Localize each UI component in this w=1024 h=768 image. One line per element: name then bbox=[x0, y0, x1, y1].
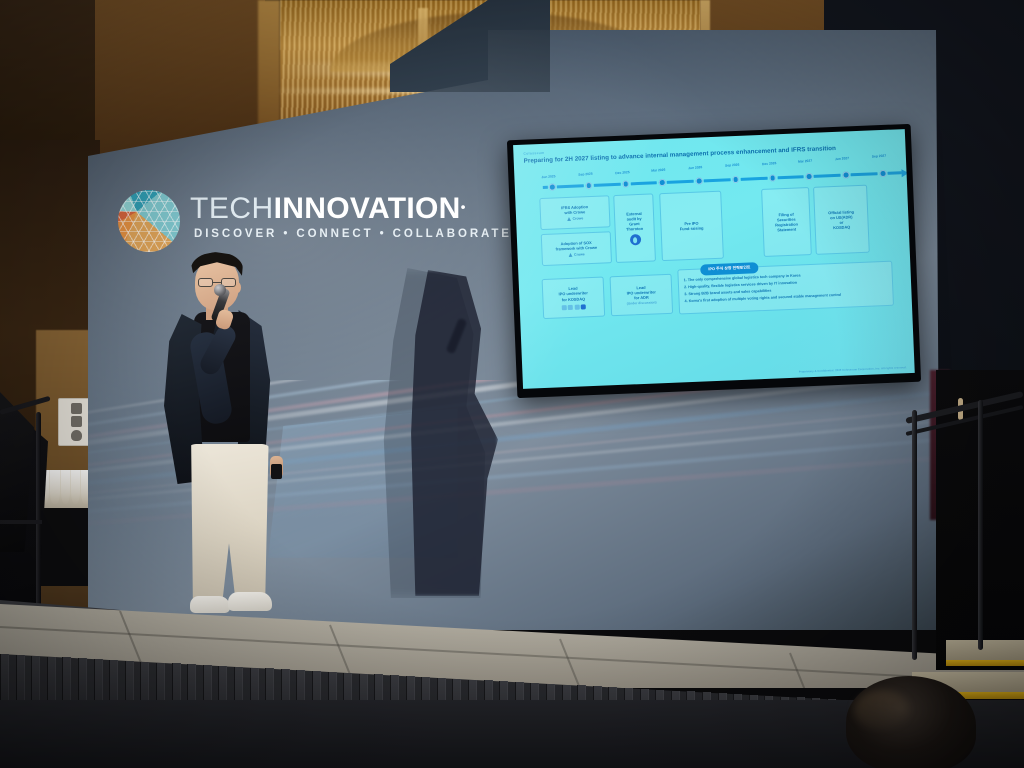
presenter bbox=[150, 248, 320, 636]
timeline-segment bbox=[814, 174, 841, 178]
shoe-right bbox=[228, 592, 272, 611]
timeline-node bbox=[732, 176, 739, 183]
underwriter-logos-icon bbox=[562, 304, 586, 310]
underwriter-text: LeadIPO underwriterfor ADR bbox=[626, 284, 656, 301]
milestone-text: Official listingon US(ADR)orKOSDAQ bbox=[828, 209, 855, 231]
timeline-node bbox=[549, 184, 556, 191]
handrail-left-post bbox=[36, 412, 41, 624]
bank-logo-icon bbox=[568, 305, 573, 310]
vendor-name: Crowe bbox=[572, 216, 583, 220]
underwriter-card: LeadIPO underwriterfor KOSDAQ bbox=[542, 277, 606, 320]
milestone-text: Pre IPOFund-raising bbox=[680, 220, 704, 231]
timeline-label: Sep 2026 bbox=[725, 163, 740, 168]
handrail-right-post bbox=[912, 410, 917, 660]
milestone-cards: IFRS Adoptionwith CroweCroweAdoption of … bbox=[539, 182, 897, 272]
timeline-segment bbox=[704, 178, 731, 182]
handrail-left-mid bbox=[0, 520, 42, 524]
timeline-segment bbox=[740, 177, 767, 181]
bank-logo-icon bbox=[574, 304, 579, 309]
timeline-segment bbox=[594, 183, 621, 187]
timeline-start-cap bbox=[543, 186, 548, 189]
timeline-node bbox=[622, 181, 629, 188]
drinking-glass bbox=[61, 470, 70, 504]
ceiling-column bbox=[258, 0, 280, 140]
crowe-mark-icon bbox=[568, 253, 572, 257]
milestone-card: Pre IPOFund-raising bbox=[659, 191, 724, 261]
timeline-label: Jun 2026 bbox=[688, 165, 702, 170]
milestone-text: IFRS Adoptionwith Crowe bbox=[561, 204, 588, 215]
registered-mark-icon: • bbox=[461, 199, 466, 215]
geodesic-globe-icon bbox=[118, 190, 180, 252]
shoe-left bbox=[190, 596, 230, 613]
milestone-card: Official listingon US(ADR)orKOSDAQ bbox=[813, 185, 870, 255]
event-name-bold: INNOVATION bbox=[274, 192, 461, 225]
timeline-label: Dec 2026 bbox=[762, 161, 777, 166]
sign-glyph-icon bbox=[71, 416, 82, 427]
timeline-segment bbox=[557, 184, 584, 188]
event-wordmark: TECHINNOVATION• bbox=[190, 192, 465, 226]
right-arrow-icon bbox=[901, 169, 908, 177]
drinking-glass bbox=[50, 470, 59, 504]
milestone-card: Adoption of SOXframework with CroweCrowe bbox=[541, 231, 612, 266]
bank-logo-icon bbox=[581, 304, 586, 309]
timeline-label: Sep 2027 bbox=[872, 154, 887, 159]
stair-tread bbox=[946, 640, 1024, 662]
lens-left bbox=[198, 278, 213, 287]
event-name-light: TECH bbox=[190, 192, 274, 225]
milestone-card: IFRS Adoptionwith CroweCrowe bbox=[539, 195, 610, 230]
crowe-logo-icon: Crowe bbox=[568, 252, 584, 257]
milestone-text: Adoption of SOXframework with Crowe bbox=[555, 240, 597, 252]
timeline-segment bbox=[630, 181, 657, 185]
underwriter-note: (Under discussion) bbox=[627, 301, 657, 306]
strategy-panel: IPO 주식 상장 전략포인트 1. The only comprehensiv… bbox=[677, 261, 894, 315]
timeline-node bbox=[696, 178, 703, 185]
timeline-segment bbox=[887, 171, 901, 175]
event-tagline: DISCOVER • CONNECT • COLLABORATE bbox=[194, 228, 512, 240]
milestone-card: Filing ofSecuritiesRegistrationStatement bbox=[761, 187, 812, 257]
strategy-pill-label: IPO 주식 상장 전략포인트 bbox=[700, 262, 759, 275]
milestone-text: Filing ofSecuritiesRegistrationStatement bbox=[775, 211, 799, 233]
timeline-label: Dec 2025 bbox=[615, 170, 630, 175]
timeline-node bbox=[769, 175, 776, 182]
crowe-logo-icon: Crowe bbox=[567, 216, 583, 221]
microphone-icon bbox=[214, 284, 226, 296]
stair-safety-strip bbox=[946, 660, 1024, 666]
clicker-device bbox=[271, 464, 282, 479]
timeline-node bbox=[585, 182, 592, 189]
underwriter-card: LeadIPO underwriterfor ADR (Under discus… bbox=[610, 274, 674, 317]
drinking-glass bbox=[71, 470, 80, 504]
display-screen: Colosseum colosseum Preparing for 2H 202… bbox=[513, 129, 915, 389]
milestone-text: Externalaudit byGrantThornton bbox=[625, 211, 643, 232]
milestone-card: Externalaudit byGrantThornton bbox=[613, 193, 656, 263]
underwriter-text: LeadIPO underwriterfor KOSDAQ bbox=[558, 285, 588, 302]
grant-thornton-logo-icon bbox=[629, 234, 640, 245]
sign-glyph-icon bbox=[71, 403, 82, 414]
glasses-bridge bbox=[213, 282, 221, 283]
timeline-segment bbox=[667, 180, 694, 184]
timeline-node bbox=[843, 172, 850, 179]
timeline-label: Sep 2025 bbox=[578, 172, 593, 177]
audience-member-head bbox=[846, 676, 976, 768]
timeline-segment bbox=[851, 172, 878, 176]
timeline-node bbox=[806, 173, 813, 180]
conference-room-photo: TECHINNOVATION• DISCOVER • CONNECT • COL… bbox=[0, 0, 1024, 768]
bank-logo-icon bbox=[562, 305, 567, 310]
timeline-label: Mar 2026 bbox=[651, 167, 665, 172]
slide-content: Colosseum colosseum Preparing for 2H 202… bbox=[513, 129, 915, 389]
event-logo: TECHINNOVATION• DISCOVER • CONNECT • COL… bbox=[118, 188, 418, 254]
timeline-node bbox=[659, 179, 666, 186]
slide-footer: Proprietary & Confidential. 2025 Colosse… bbox=[799, 366, 907, 373]
timeline-label: Jun 2027 bbox=[835, 156, 849, 161]
vendor-name: Crowe bbox=[574, 252, 585, 256]
timeline-label: Jun 2025 bbox=[541, 174, 555, 179]
presentation-display: Colosseum colosseum Preparing for 2H 202… bbox=[507, 124, 921, 398]
timeline-segment bbox=[777, 175, 804, 179]
timeline-node bbox=[879, 170, 886, 177]
crowe-mark-icon bbox=[567, 217, 571, 221]
sign-glyph-icon bbox=[71, 430, 82, 441]
trousers bbox=[186, 444, 272, 604]
timeline-label: Mar 2027 bbox=[798, 158, 812, 163]
handrail-right-post bbox=[978, 400, 983, 650]
